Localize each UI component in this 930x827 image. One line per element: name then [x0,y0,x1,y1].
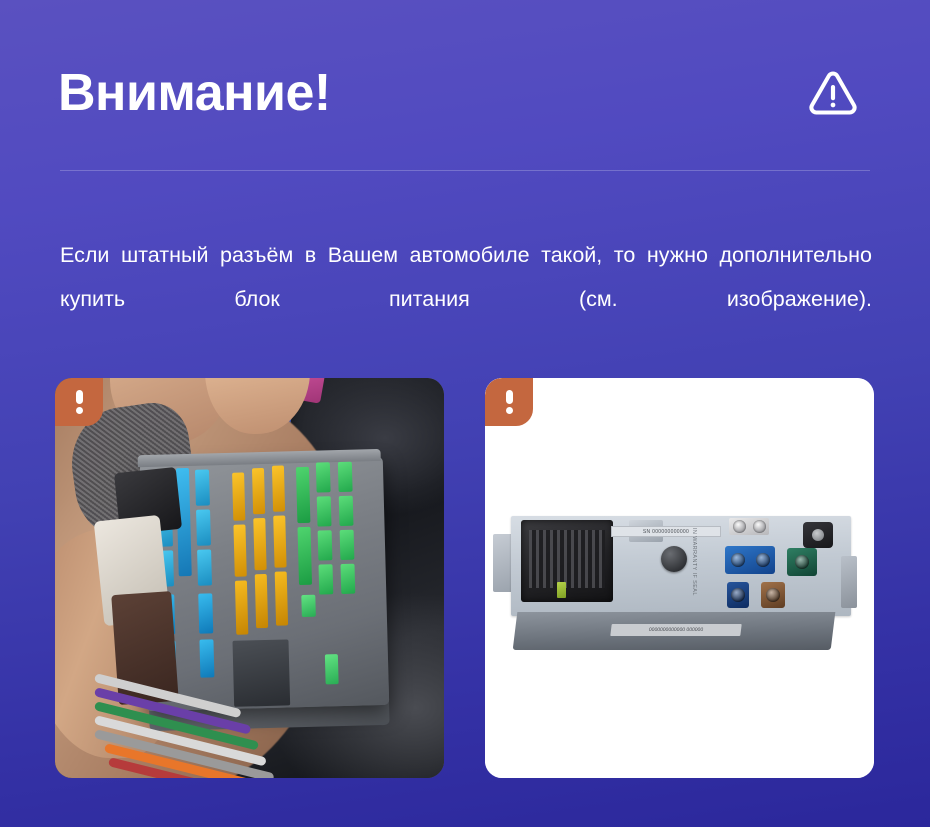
power-supply-photo-card[interactable]: SN 000000000000 IN WARRANTY IF SEAL [485,378,874,778]
connector-photo-card[interactable] [55,378,444,778]
header-divider [60,170,870,171]
warning-badge [485,378,533,426]
module-bottom-label: 0000000000000 000000 [610,624,741,636]
connector-photo-image [55,378,444,778]
power-supply-photo-image: SN 000000000000 IN WARRANTY IF SEAL [485,378,874,778]
module-top-label: SN 000000000000 [611,526,721,537]
module-side-label: IN WARRANTY IF SEAL [691,528,697,596]
page-title: Внимание! [58,67,331,119]
exclamation-icon [506,390,513,414]
exclamation-icon [76,390,83,414]
warning-triangle-icon [804,64,872,122]
photo-card-list: SN 000000000000 IN WARRANTY IF SEAL [55,378,875,778]
page-header: Внимание! [58,52,872,134]
notice-paragraph: Если штатный разъём в Вашем автомобиле т… [60,233,872,365]
warning-badge [55,378,103,426]
